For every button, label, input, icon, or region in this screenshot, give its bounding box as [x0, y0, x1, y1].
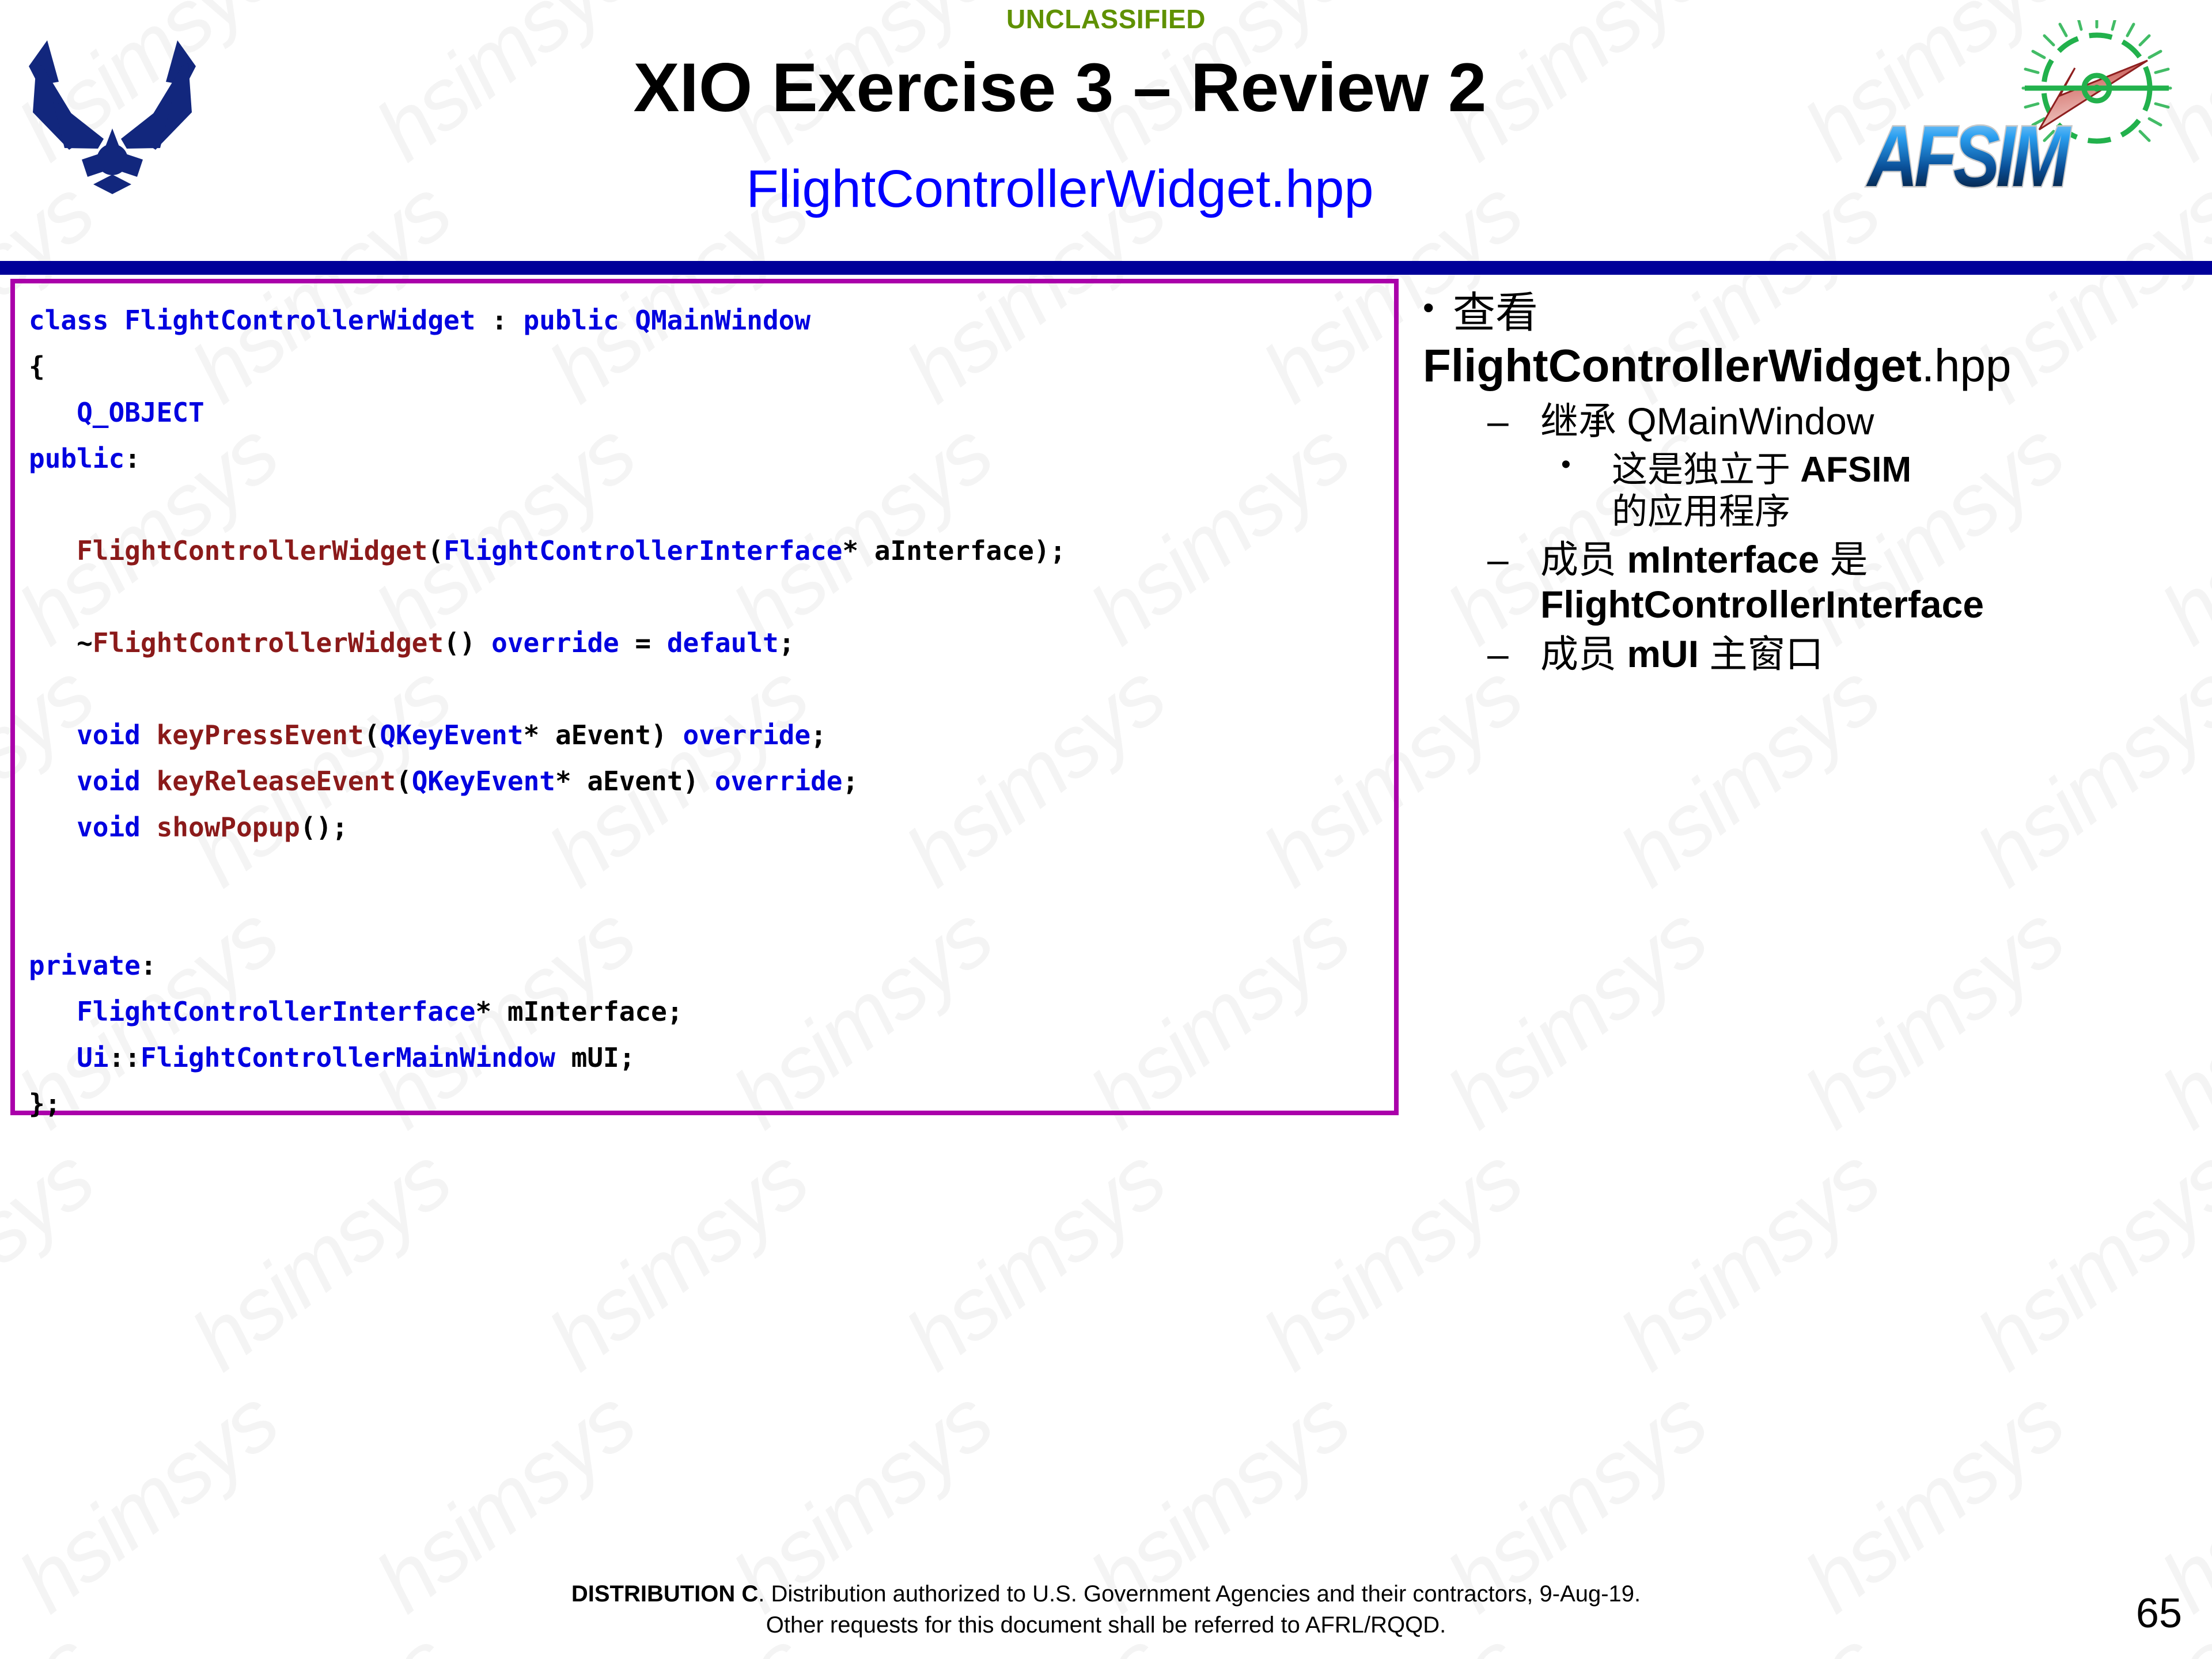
bullet-item-filename: FlightControllerWidget.hpp [1423, 340, 2200, 391]
distribution-body: . Distribution authorized to U.S. Govern… [758, 1581, 1641, 1607]
page-number: 65 [2136, 1590, 2182, 1637]
page-title: XIO Exercise 3 – Review 2 [288, 53, 1832, 122]
bullet-marker-dot: • [1423, 288, 1453, 327]
notes-panel: • 查看 FlightControllerWidget.hpp – 继承 QMa… [1423, 288, 2200, 681]
member-name-mui: mUI [1627, 632, 1699, 675]
afsim-logo: AFSIM [1861, 20, 2206, 199]
distribution-line-1: DISTRIBUTION C. Distribution authorized … [0, 1578, 2212, 1609]
bullet-marker-dash-2: – [1487, 537, 1540, 582]
inherits-class-name: QMainWindow [1627, 400, 1874, 442]
code-listing-panel: class FlightControllerWidget : public QM… [10, 279, 1399, 1115]
filename-bold: FlightControllerWidget [1423, 340, 1922, 391]
standalone-line1-en: AFSIM [1800, 450, 1911, 490]
member-label-cn: 成员 [1540, 538, 1616, 581]
standalone-line1-cn: 这是独立于 [1612, 450, 1790, 490]
bullet-item-minterface: – 成员 mInterface 是FlightControllerInterfa… [1487, 537, 2200, 627]
bullet-text-inherits: 继承 QMainWindow [1540, 399, 2200, 444]
standalone-line2-cn: 的应用程序 [1612, 492, 1790, 532]
distribution-label: DISTRIBUTION C [571, 1581, 758, 1607]
slide-canvas: UNCLASSIFIED XIO Exercise 3 – Review [0, 0, 2212, 1659]
bullet-text-mui: 成员 mUI 主窗口 [1540, 632, 2200, 677]
member-name-minterface: mInterface [1627, 538, 1819, 581]
afsim-logo-icon: AFSIM [1861, 20, 2206, 199]
usaf-wings-icon [17, 26, 207, 199]
page-subtitle: FlightControllerWidget.hpp [288, 162, 1832, 215]
bullet-item-mui: – 成员 mUI 主窗口 [1487, 632, 2200, 677]
bullet-text-minterface: 成员 mInterface 是FlightControllerInterface [1540, 537, 2200, 627]
member-label-cn-2: 成员 [1540, 632, 1616, 675]
header-divider [0, 261, 2212, 275]
code-listing: class FlightControllerWidget : public QM… [29, 297, 1066, 1127]
bullet-marker-dash-3: – [1487, 632, 1540, 677]
bullet-item-view: • 查看 [1423, 288, 2200, 337]
bullet-marker-dash: – [1487, 399, 1540, 444]
distribution-line-2: Other requests for this document shall b… [0, 1609, 2212, 1641]
bullet-item-inherits: – 继承 QMainWindow [1487, 399, 2200, 444]
mainwindow-label-cn: 主窗口 [1709, 632, 1823, 675]
is-label-cn: 是 [1830, 538, 1868, 581]
usaf-wings-logo [17, 26, 207, 199]
bullet-text-standalone-app: 这是独立于 AFSIM的应用程序 [1612, 449, 2200, 533]
bullet-marker-dot-sub: • [1561, 449, 1612, 482]
member-type-flightcontrollerinterface: FlightControllerInterface [1540, 583, 1984, 626]
inherits-label-cn: 继承 [1540, 400, 1616, 442]
afsim-wordmark: AFSIM [1866, 108, 2071, 199]
filename-extension: .hpp [1922, 340, 2012, 391]
bullet-text-view: 查看 [1453, 288, 2200, 337]
bullet-item-standalone-app: • 这是独立于 AFSIM的应用程序 [1561, 449, 2200, 533]
distribution-statement: DISTRIBUTION C. Distribution authorized … [0, 1578, 2212, 1641]
